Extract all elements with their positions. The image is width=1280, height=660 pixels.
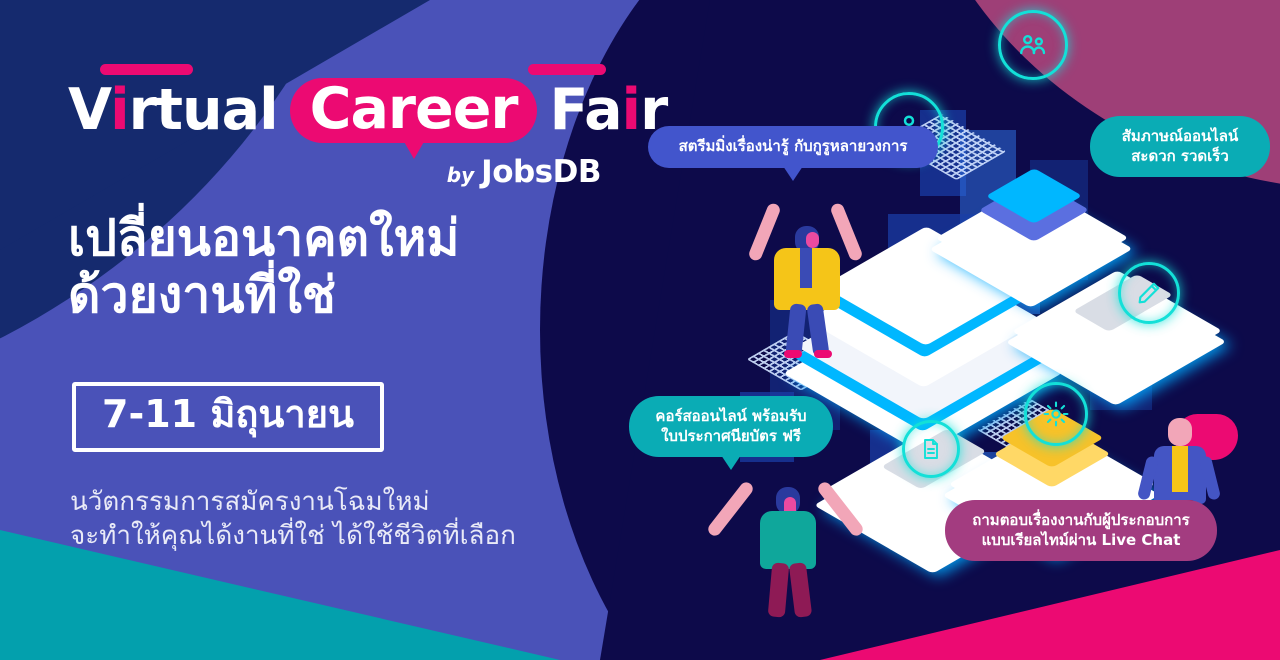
document-glyph	[905, 423, 957, 475]
byline-by: by	[447, 163, 474, 187]
leg-left	[768, 562, 790, 617]
pencil-glyph	[1121, 265, 1177, 321]
logo-fair-fa: Fa	[549, 77, 621, 143]
bubble-online-interview: สัมภาษณ์ออนไลน์ สะดวก รวดเร็ว	[1090, 116, 1270, 177]
arm-left	[706, 480, 756, 538]
people-glyph	[1001, 13, 1065, 77]
subcopy: นวัตกรรมการสมัครงานโฉมใหม่ จะทำให้คุณได้…	[70, 485, 516, 554]
logo-virtual-v: V	[68, 77, 110, 143]
logo-career-bubble: Career	[290, 78, 538, 143]
shoe-right	[814, 350, 832, 358]
illustration	[620, 0, 1280, 660]
torso-teal-top	[760, 511, 816, 569]
logo-virtual-rest: rtual	[129, 77, 278, 143]
bubble-streaming: สตรีมมิ่งเรื่องน่ารู้ กับกูรูหลายวงการ	[648, 126, 938, 168]
bubble-online-course: คอร์สออนไลน์ พร้อมรับ ใบประกาศนียบัตร ฟร…	[629, 396, 833, 457]
byline-brand-jobsdb: JobsDB	[481, 154, 601, 190]
logo-accent-bar-right	[528, 64, 606, 75]
leg-right	[789, 562, 812, 618]
virtual-career-fair-logo: Virtual Career Fair by JobsDB	[68, 78, 613, 142]
shirt-collar	[800, 248, 812, 288]
shoe-left	[784, 350, 802, 358]
hair	[806, 232, 819, 248]
leg-left	[785, 303, 806, 356]
date-badge-text: 7-11 มิถุนายน	[102, 392, 354, 436]
leg-right	[806, 303, 829, 357]
person-celebrating-yellow	[748, 190, 868, 350]
logo-word-career: Career	[310, 81, 518, 138]
bubble-live-chat: ถามตอบเรื่องงานกับผู้ประกอบการ แบบเรียลไ…	[945, 500, 1217, 561]
logo-virtual-i: i	[110, 77, 129, 143]
head	[1168, 418, 1192, 446]
text-column: Virtual Career Fair by JobsDB เปลี่ยนอนา…	[0, 0, 640, 660]
virtual-career-fair-banner: Virtual Career Fair by JobsDB เปลี่ยนอนา…	[0, 0, 1280, 660]
person-celebrating-teal	[722, 455, 852, 615]
date-badge: 7-11 มิถุนายน	[72, 382, 384, 452]
gear-icon	[1024, 382, 1088, 446]
logo-accent-bar-left	[100, 64, 193, 75]
pencil-icon	[1118, 262, 1180, 324]
gear-glyph	[1027, 385, 1085, 443]
logo-word-virtual: Virtual	[68, 82, 278, 139]
headline: เปลี่ยนอนาคตใหม่ ด้วยงานที่ใช่	[68, 210, 459, 323]
logo-byline: by JobsDB	[447, 154, 601, 190]
document-icon	[902, 420, 960, 478]
people-icon	[998, 10, 1068, 80]
shirt-yellow	[1172, 446, 1188, 492]
